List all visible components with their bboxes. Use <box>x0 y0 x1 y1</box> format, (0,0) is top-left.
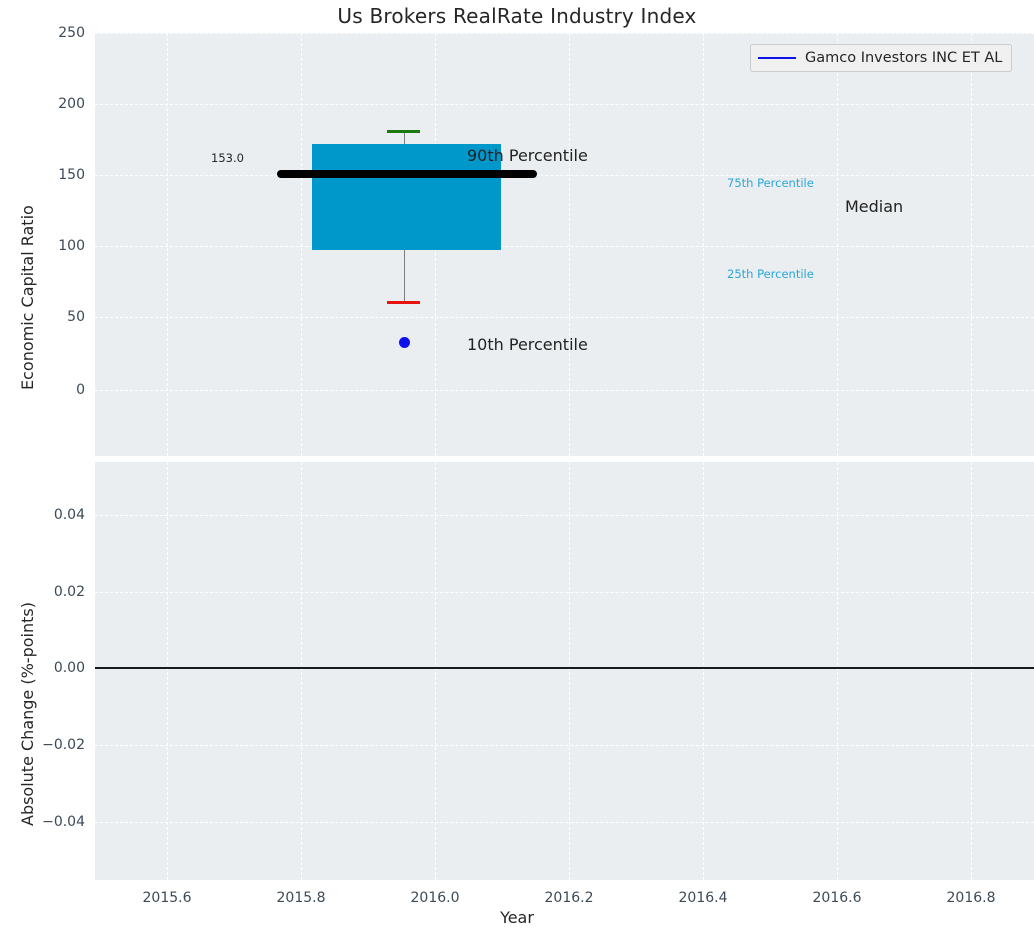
gridline-h <box>95 317 1034 318</box>
x-axis-title: Year <box>0 908 1034 927</box>
chart-title: Us Brokers RealRate Industry Index <box>0 4 1034 28</box>
gridline-h <box>95 104 1034 105</box>
gridline-v <box>569 33 570 456</box>
bottom-plot-panel <box>95 462 1034 880</box>
chart-legend[interactable]: Gamco Investors INC ET AL <box>750 44 1012 72</box>
gridline-v <box>167 462 168 880</box>
gridline-v <box>301 33 302 456</box>
y-tick-label: 0.04 <box>1 507 85 523</box>
gridline-v <box>971 33 972 456</box>
y-axis-title-top: Economic Capital Ratio <box>18 205 37 390</box>
y-tick-label: 0.02 <box>1 584 85 600</box>
x-tick-label: 2016.4 <box>679 890 728 906</box>
gridline-v <box>971 462 972 880</box>
annotation-75th-percentile: 75th Percentile <box>727 176 814 190</box>
annotation-median: Median <box>845 197 903 216</box>
lower-whisker-cap <box>387 301 420 304</box>
legend-label: Gamco Investors INC ET AL <box>805 50 1002 66</box>
gridline-h <box>95 822 1034 823</box>
gridline-v <box>569 462 570 880</box>
gridline-h <box>95 592 1034 593</box>
gridline-h <box>95 745 1034 746</box>
x-tick-label: 2016.6 <box>813 890 862 906</box>
y-axis-title-bottom: Absolute Change (%-points) <box>18 602 37 826</box>
gridline-v <box>703 462 704 880</box>
legend-line-swatch <box>758 57 796 59</box>
annotation-90th-percentile: 90th Percentile <box>467 146 588 165</box>
company-marker-dot <box>399 337 410 348</box>
x-tick-label: 2016.2 <box>545 890 594 906</box>
gridline-h <box>95 246 1034 247</box>
gridline-v <box>167 33 168 456</box>
gridline-v <box>703 33 704 456</box>
gridline-v <box>837 462 838 880</box>
chart-figure: Us Brokers RealRate Industry Index 90th … <box>0 0 1034 942</box>
gridline-v <box>301 462 302 880</box>
zero-reference-line <box>95 667 1034 669</box>
x-tick-label: 2015.8 <box>277 890 326 906</box>
x-tick-label: 2015.6 <box>143 890 192 906</box>
upper-whisker-cap <box>387 130 420 133</box>
y-axis-bottom: 0.04 0.02 0.00 −0.02 −0.04 <box>0 0 85 942</box>
x-tick-label: 2016.8 <box>947 890 996 906</box>
top-plot-panel: 90th Percentile 10th Percentile Median 7… <box>95 33 1034 456</box>
gridline-v <box>837 33 838 456</box>
x-tick-label: 2016.0 <box>411 890 460 906</box>
gridline-h <box>95 175 1034 176</box>
y-tick-label: 0.00 <box>1 660 85 676</box>
gridline-h <box>95 515 1034 516</box>
y-tick-label: −0.04 <box>1 814 85 830</box>
gridline-v <box>435 462 436 880</box>
annotation-25th-percentile: 25th Percentile <box>727 267 814 281</box>
median-bar <box>277 170 537 178</box>
gridline-h <box>95 33 1034 34</box>
median-value-label: 153.0 <box>211 151 244 165</box>
gridline-h <box>95 390 1034 391</box>
y-tick-label: −0.02 <box>1 737 85 753</box>
annotation-10th-percentile: 10th Percentile <box>467 335 588 354</box>
